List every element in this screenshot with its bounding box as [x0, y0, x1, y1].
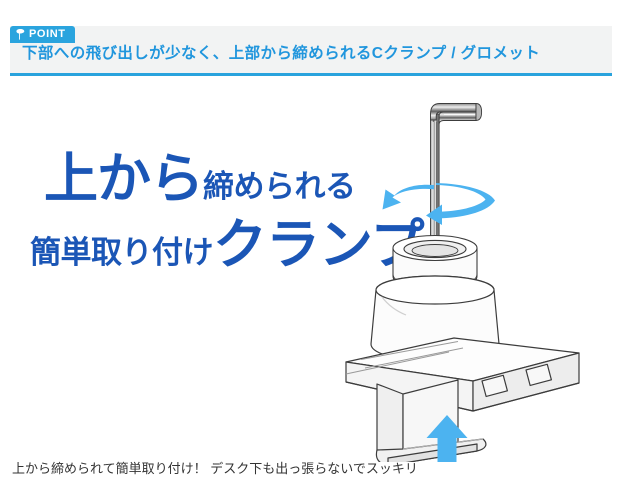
display-copy-line2-small: 簡単取り付け	[30, 235, 213, 270]
display-copy-line1-large: 上から	[44, 149, 203, 209]
point-headline: 下部への飛び出しが少なく、上部から締められるCクランプ / グロメット	[22, 46, 540, 62]
point-badge: POINT	[10, 26, 75, 43]
point-badge-label: POINT	[29, 29, 66, 40]
clamp-illustration	[330, 82, 621, 462]
pin-icon	[16, 29, 25, 40]
bottom-caption: 上から締められて簡単取り付け！ デスク下も出っ張らないでスッキリ	[12, 462, 418, 475]
